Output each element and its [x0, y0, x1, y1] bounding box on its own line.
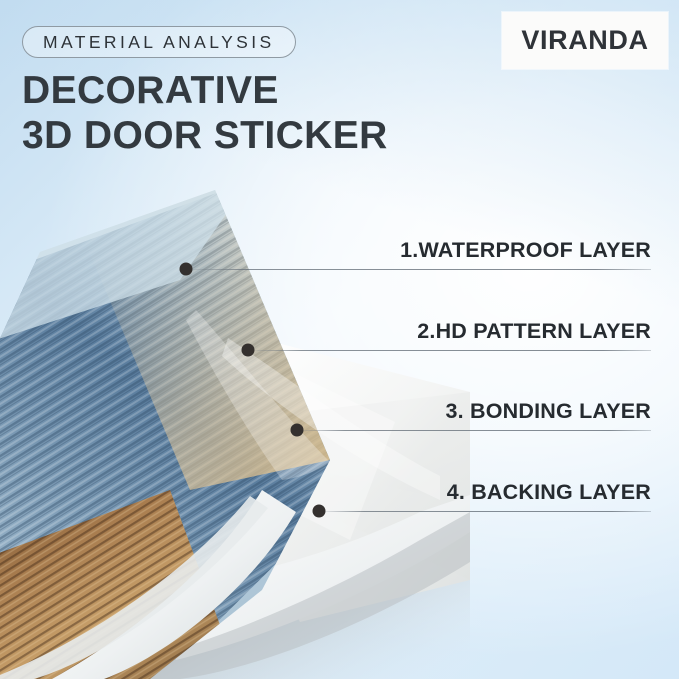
callout-rule: [192, 269, 651, 270]
callout-dot-waterproof-layer: [180, 263, 193, 276]
callout-label: 4. BACKING LAYER: [447, 480, 651, 505]
badge-label: MATERIAL ANALYSIS: [43, 32, 275, 53]
callout-label: 1.WATERPROOF LAYER: [400, 238, 651, 263]
callout-dot-hd-pattern-layer: [242, 344, 255, 357]
callout-waterproof-layer: 1.WATERPROOF LAYER: [192, 234, 651, 270]
callout-bonding-layer: 3. BONDING LAYER: [303, 395, 651, 431]
callout-label: 2.HD PATTERN LAYER: [417, 319, 651, 344]
callout-backing-layer: 4. BACKING LAYER: [325, 476, 651, 512]
callout-rule: [325, 511, 651, 512]
callout-hd-pattern-layer: 2.HD PATTERN LAYER: [254, 315, 651, 351]
material-analysis-badge: MATERIAL ANALYSIS: [22, 26, 296, 58]
headline-line-1: DECORATIVE: [22, 69, 279, 112]
material-analysis-infographic: MATERIAL ANALYSIS DECORATIVE 3D DOOR STI…: [0, 0, 679, 679]
brand-name: VIRANDA: [521, 25, 648, 56]
callout-dot-backing-layer: [313, 505, 326, 518]
callout-label: 3. BONDING LAYER: [446, 399, 652, 424]
brand-logo: VIRANDA: [502, 12, 668, 69]
callout-rule: [254, 350, 651, 351]
page-title: DECORATIVE 3D DOOR STICKER: [22, 68, 388, 158]
headline-line-2: 3D DOOR STICKER: [22, 113, 388, 158]
callout-dot-bonding-layer: [291, 424, 304, 437]
callout-rule: [303, 430, 651, 431]
